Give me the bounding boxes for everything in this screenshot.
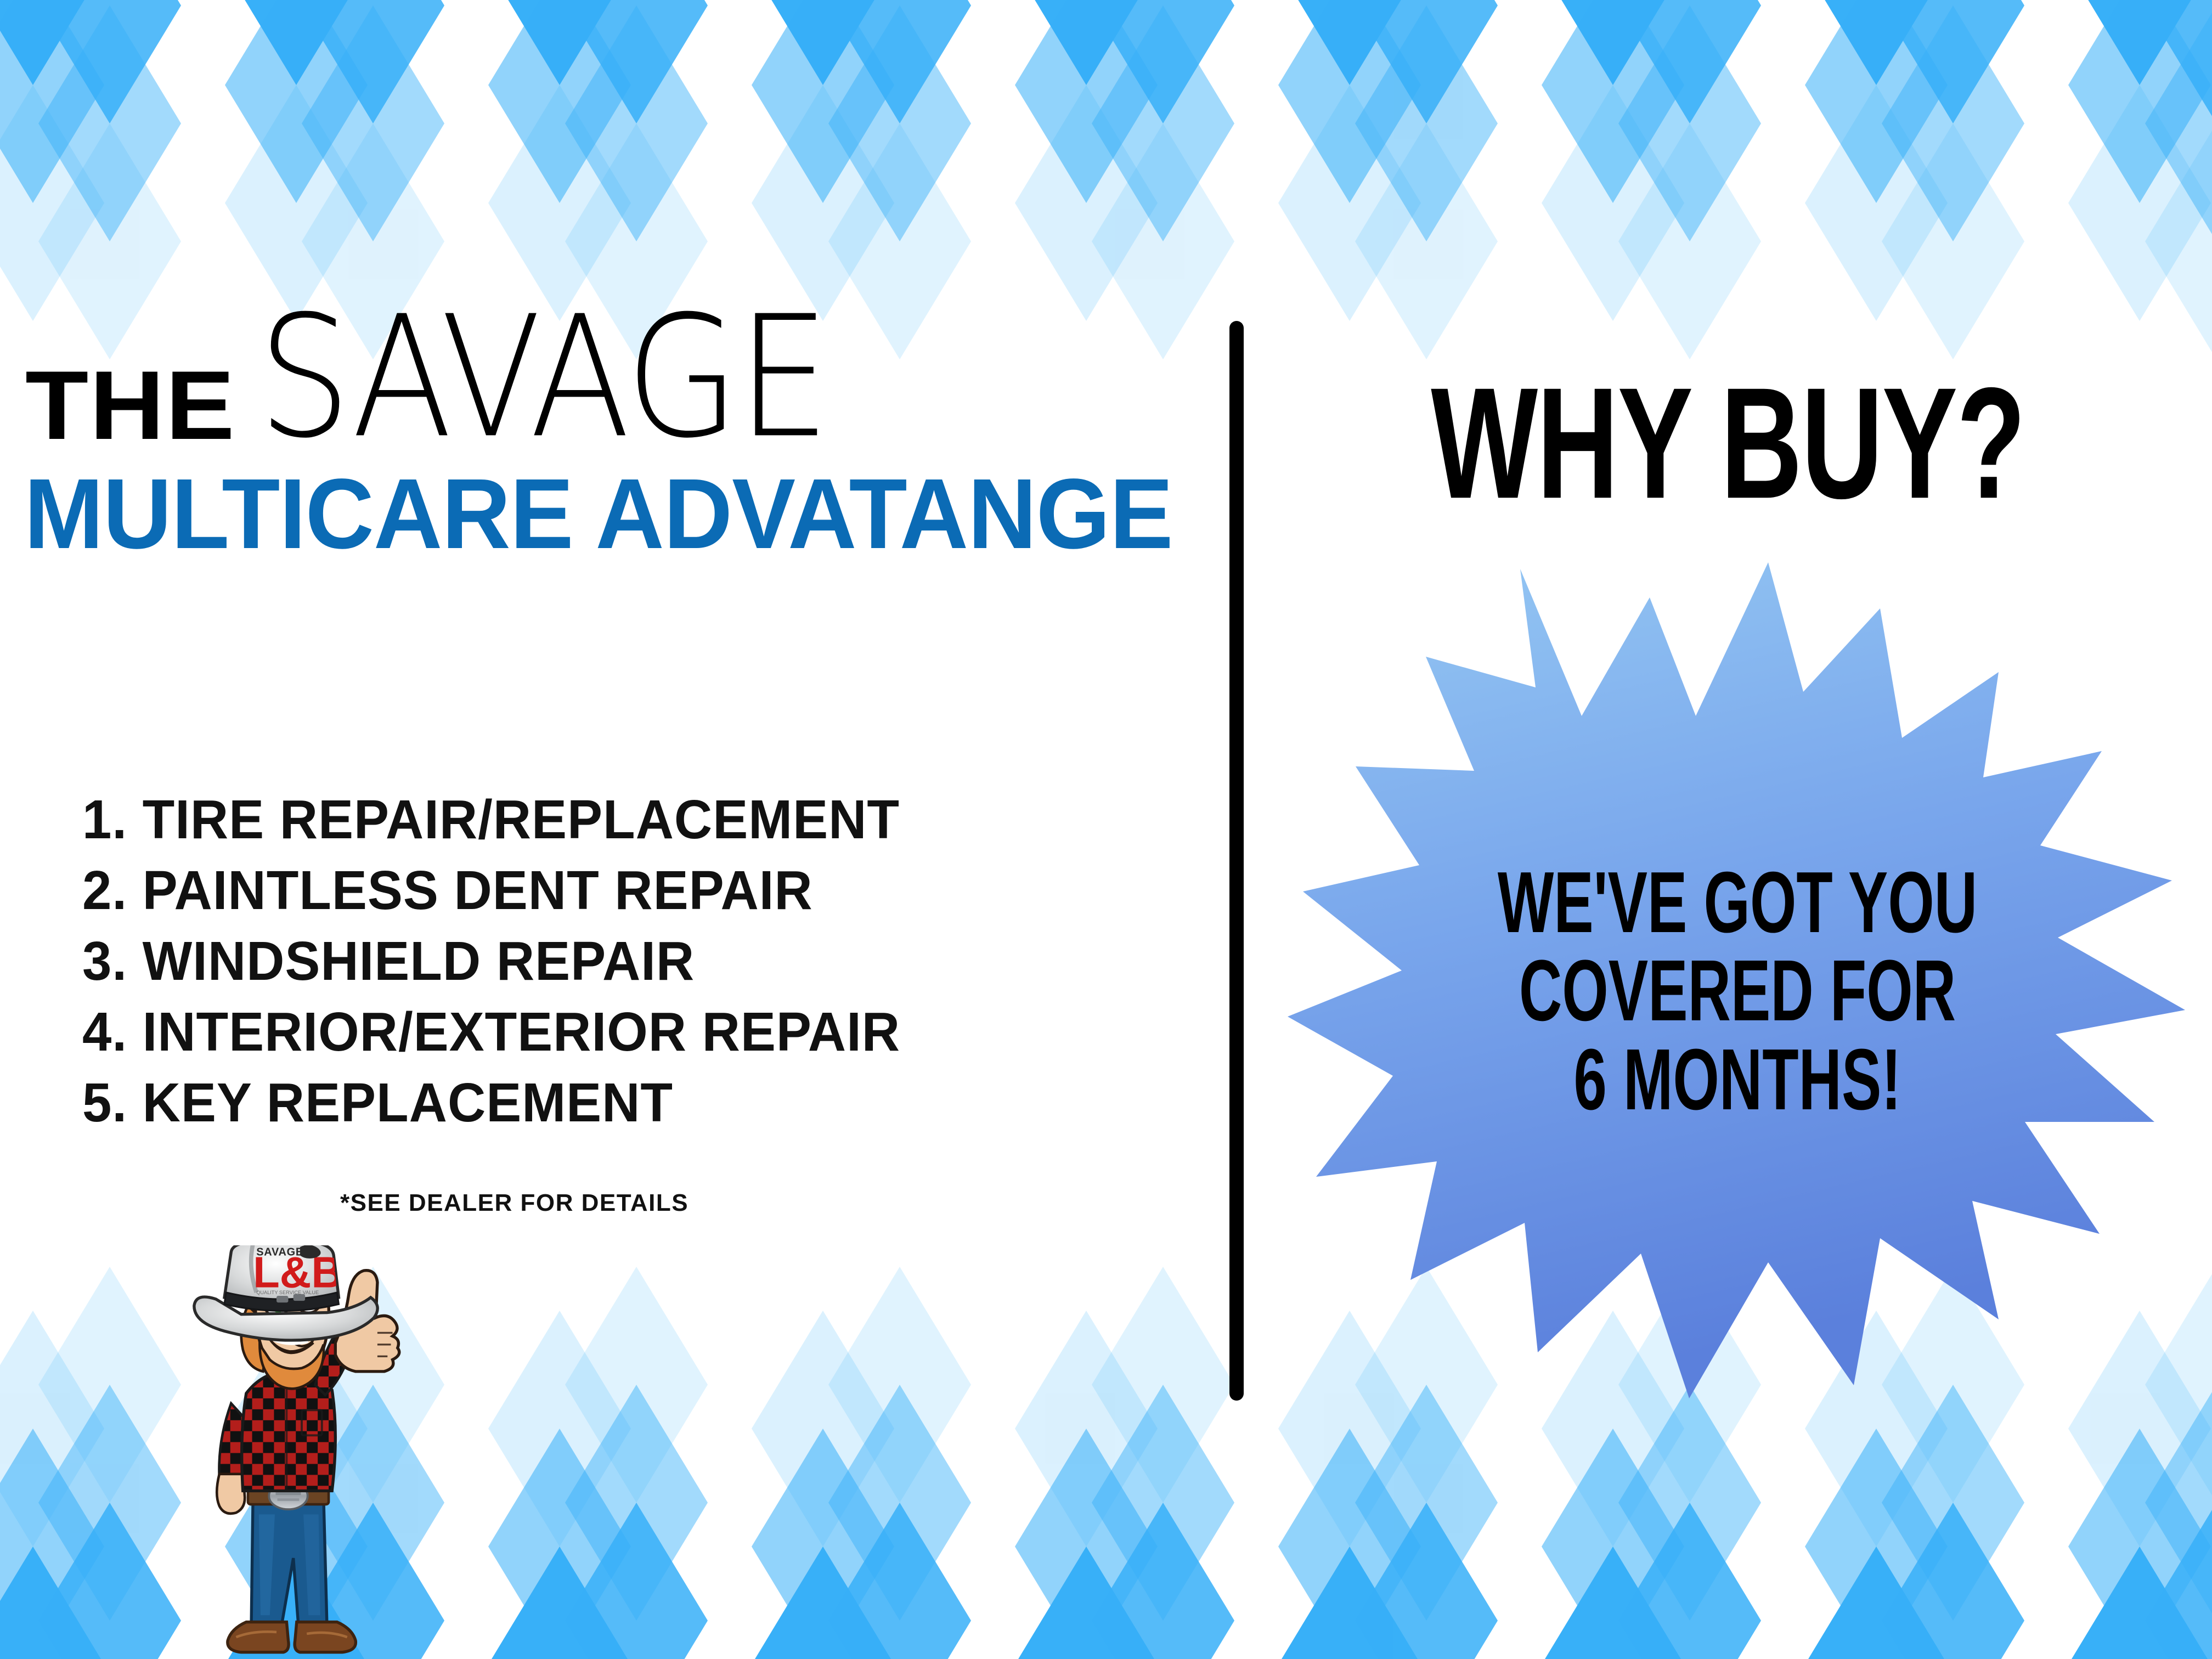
hat-logo: SAVAGE L&B QUALITY SERVICE VALUE	[253, 1245, 343, 1297]
mascot-boots	[228, 1622, 356, 1652]
burst-message: WE'VE GOT YOU COVERED FOR 6 MONTHS!	[1324, 859, 2152, 1124]
list-item: 4. INTERIOR/EXTERIOR REPAIR	[82, 997, 900, 1068]
hat-logo-tagline-text: QUALITY SERVICE VALUE	[256, 1290, 319, 1295]
burst-line-2: COVERED FOR	[1324, 947, 2152, 1035]
panel-divider	[1229, 321, 1244, 1401]
right-panel: WHY BUY? WE'VE GOT YOU COVERED FOR 6 MON…	[1244, 0, 2212, 1659]
list-item: 2. PAINTLESS DENT REPAIR	[82, 855, 900, 926]
headline-subtitle: MULTICARE ADVATANGE	[24, 464, 1172, 564]
mascot-jeans	[251, 1498, 327, 1626]
disclaimer-text: *SEE DEALER FOR DETAILS	[340, 1189, 689, 1217]
burst-line-3: 6 MONTHS!	[1324, 1036, 2152, 1124]
list-item: 1. TIRE REPAIR/REPLACEMENT	[82, 785, 900, 855]
starburst-badge: WE'VE GOT YOU COVERED FOR 6 MONTHS!	[1288, 551, 2187, 1407]
service-list: 1. TIRE REPAIR/REPLACEMENT 2. PAINTLESS …	[82, 785, 934, 1138]
why-buy-heading: WHY BUY?	[1278, 369, 2178, 519]
mascot-cowboy: SAVAGE L&B QUALITY SERVICE VALUE	[176, 1245, 428, 1659]
poster-canvas: THE SAVAGE MULTICARE ADVATANGE 1. TIRE R…	[0, 0, 2212, 1659]
headline-word-the: THE	[25, 363, 236, 447]
headline-word-savage: SAVAGE	[258, 309, 828, 447]
burst-line-1: WE'VE GOT YOU	[1324, 859, 2152, 947]
main-headline: THE SAVAGE	[25, 326, 828, 447]
list-item: 5. KEY REPLACEMENT	[82, 1068, 900, 1138]
list-item: 3. WINDSHIELD REPAIR	[82, 926, 900, 997]
